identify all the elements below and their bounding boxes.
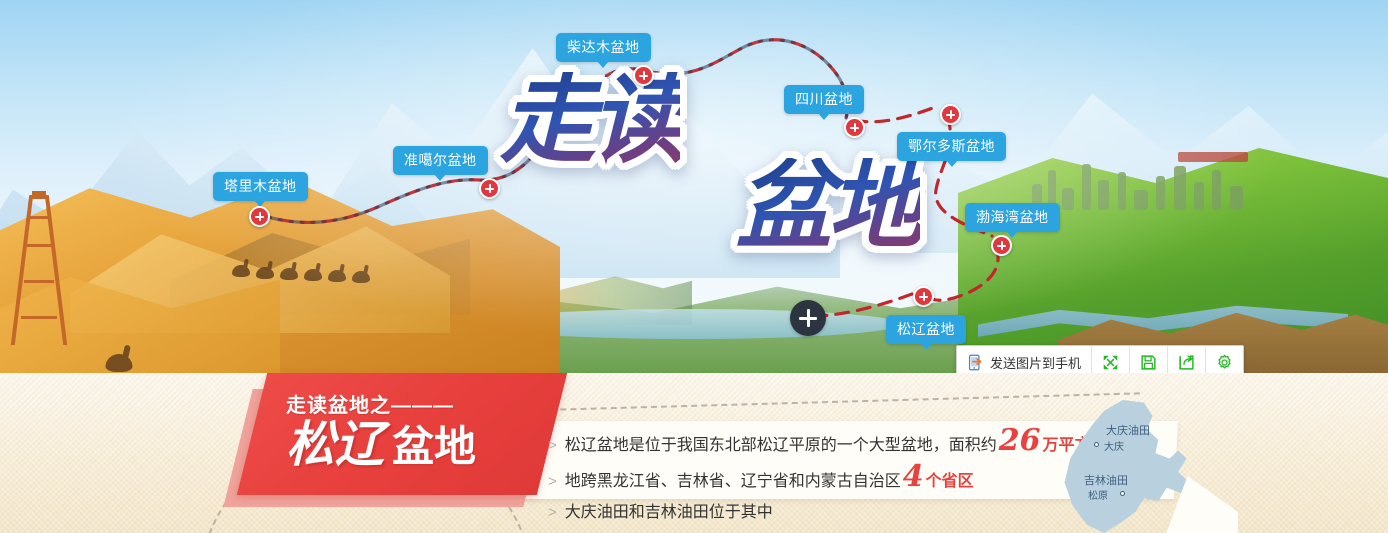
banner-kicker: 走读盆地之——— [286, 389, 552, 418]
send-to-phone-button[interactable]: 发送图片到手机 [957, 346, 1092, 373]
basin-tag-7[interactable]: 塔里木盆地 [213, 172, 308, 201]
settings-button[interactable] [1206, 346, 1243, 373]
basin-marker-7[interactable] [249, 206, 270, 227]
fact-number: 26 [997, 426, 1043, 456]
fact-row: >地跨黑龙江省、吉林省、辽宁省和内蒙古自治区4个省区 [548, 462, 1108, 492]
basin-marker-active[interactable] [790, 300, 826, 336]
red-banner: 走读盆地之——— 松辽 盆地 [237, 373, 567, 495]
fact-row: >大庆油田和吉林油田位于其中 [548, 498, 1108, 522]
fact-row: >松辽盆地是位于我国东北部松辽平原的一个大型盆地，面积约26万平方千米 [548, 426, 1108, 456]
share-button[interactable] [1168, 346, 1206, 373]
fact-number: 4 [901, 462, 926, 492]
fact-text: 地跨黑龙江省、吉林省、辽宁省和内蒙古自治区 [565, 467, 901, 491]
map-city-label-2: 松原 [1088, 487, 1108, 502]
save-button[interactable] [1130, 346, 1168, 373]
basin-marker-3[interactable] [940, 104, 961, 125]
fact-unit: 个省区 [926, 467, 974, 491]
songliao-basin-map: 大庆油田大庆吉林油田松原 [1048, 400, 1248, 533]
basin-tag-4[interactable]: 渤海湾盆地 [965, 203, 1060, 232]
banner-name-cursive: 松辽 [286, 420, 384, 469]
basin-marker-1[interactable] [633, 65, 654, 86]
basin-tag-1[interactable]: 柴达木盆地 [556, 33, 651, 62]
fact-text: 大庆油田和吉林油田位于其中 [565, 498, 773, 522]
route-path [0, 0, 1388, 373]
chevron-right-icon: > [548, 473, 557, 490]
expand-icon [1102, 354, 1119, 371]
map-city-label-1: 大庆 [1104, 438, 1124, 453]
map-city-dot-1 [1094, 442, 1099, 447]
lower-section: 走读盆地之——— 松辽 盆地 >松辽盆地是位于我国东北部松辽平原的一个大型盆地，… [0, 373, 1388, 533]
basin-marker-4[interactable] [991, 235, 1012, 256]
send-to-phone-icon [967, 354, 984, 371]
send-to-phone-label: 发送图片到手机 [990, 353, 1081, 372]
page-root: 走读 盆地 柴达木盆地四川盆地鄂尔多斯盆地渤海湾盆地松辽盆地准噶尔盆地塔里木盆地… [0, 0, 1388, 533]
banner-name-plain: 盆地 [392, 425, 476, 469]
map-oilfield-label-1: 大庆油田 [1106, 422, 1150, 438]
basin-tag-3[interactable]: 鄂尔多斯盆地 [897, 132, 1006, 161]
share-icon [1178, 354, 1195, 371]
save-icon [1140, 354, 1157, 371]
basin-marker-6[interactable] [479, 178, 500, 199]
fact-text: 松辽盆地是位于我国东北部松辽平原的一个大型盆地，面积约 [565, 431, 997, 455]
basin-tag-5[interactable]: 松辽盆地 [886, 315, 966, 344]
basin-marker-5[interactable] [913, 286, 934, 307]
map-oilfield-label-2: 吉林油田 [1084, 472, 1128, 488]
chevron-right-icon: > [548, 504, 557, 521]
facts-list: >松辽盆地是位于我国东北部松辽平原的一个大型盆地，面积约26万平方千米>地跨黑龙… [548, 426, 1108, 528]
basin-tag-2[interactable]: 四川盆地 [784, 85, 864, 114]
chevron-right-icon: > [548, 437, 557, 454]
settings-gear-icon [1216, 354, 1233, 371]
basin-tag-6[interactable]: 准噶尔盆地 [393, 146, 488, 175]
basin-marker-2[interactable] [844, 117, 865, 138]
map-city-dot-2 [1120, 491, 1125, 496]
image-toolbar[interactable]: 发送图片到手机 [956, 345, 1244, 373]
expand-button[interactable] [1092, 346, 1130, 373]
hero-banner: 走读 盆地 柴达木盆地四川盆地鄂尔多斯盆地渤海湾盆地松辽盆地准噶尔盆地塔里木盆地… [0, 0, 1388, 373]
